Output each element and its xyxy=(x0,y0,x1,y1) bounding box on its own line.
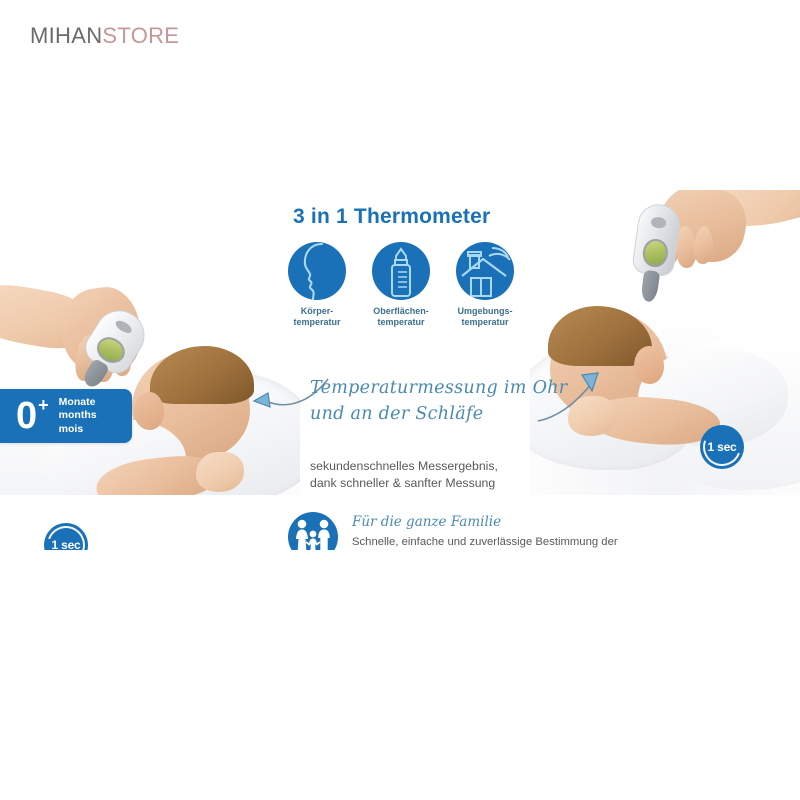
age-badge-number: 0 xyxy=(16,397,36,435)
feature-label-line1: Umgebungs- xyxy=(458,306,513,316)
script-heading: Temperaturmessung im Ohr und an der Schl… xyxy=(310,375,620,428)
feature-label-line2: temperatur xyxy=(461,317,508,327)
family-icon xyxy=(288,512,338,550)
head-profile-icon xyxy=(288,242,346,300)
center-content: 3 in 1 Thermometer Körper- temperatur xyxy=(275,205,675,329)
feature-label: Oberflächen- temperatur xyxy=(369,306,433,329)
one-second-badge-left: 1 sec xyxy=(44,523,88,550)
one-second-badge-label: 1 sec xyxy=(707,440,736,454)
script-heading-line2: und an der Schläfe xyxy=(310,404,483,424)
one-second-badge-right: 1 sec xyxy=(700,425,744,469)
logo-text-secondary: STORE xyxy=(102,23,179,48)
logo-text-primary: MIHAN xyxy=(30,23,102,48)
baby-ear xyxy=(134,392,164,430)
feature-label-line2: temperatur xyxy=(377,317,424,327)
feature-label-line1: Oberflächen- xyxy=(373,306,429,316)
feature-label: Umgebungs- temperatur xyxy=(453,306,517,329)
age-badge-line-en: months xyxy=(59,409,97,422)
feature-label-line2: temperatur xyxy=(293,317,340,327)
feature-icon-row: Körper- temperatur xyxy=(285,242,675,329)
age-badge-words: Monate months mois xyxy=(59,396,97,435)
feature-label: Körper- temperatur xyxy=(285,306,349,329)
feature-label-line1: Körper- xyxy=(301,306,334,316)
baby-ear xyxy=(634,346,664,384)
age-badge-line-fr: mois xyxy=(59,423,97,436)
sub-description-line2: dank schneller & sanfter Messung xyxy=(310,476,495,490)
feature-ambient-temperature: Umgebungs- temperatur xyxy=(453,242,517,329)
script-heading-line1: Temperaturmessung im Ohr xyxy=(310,378,567,398)
age-badge: 0 + Monate months mois xyxy=(0,389,132,443)
family-text-block: Für die ganze Familie Schnelle, einfache… xyxy=(352,512,635,550)
sub-description: sekundenschnelles Messergebnis, dank sch… xyxy=(310,458,610,492)
age-badge-line-de: Monate xyxy=(59,396,97,409)
site-logo[interactable]: MIHANSTORE xyxy=(30,23,179,49)
family-description-line1: Schnelle, einfache und zuverlässige Best… xyxy=(352,536,618,548)
baby-hand xyxy=(196,452,244,492)
feature-body-temperature: Körper- temperatur xyxy=(285,242,349,329)
family-feature-row: Für die ganze Familie Schnelle, einfache… xyxy=(288,512,635,550)
baby-bottle-icon xyxy=(372,242,430,300)
banner-canvas: 0 + Monate months mois 1 sec 1 sec 3 in … xyxy=(0,175,800,550)
one-second-badge-label: 1 sec xyxy=(51,538,80,550)
product-banner-page: MIHANSTORE xyxy=(0,0,800,800)
feature-surface-temperature: Oberflächen- temperatur xyxy=(369,242,433,329)
sub-description-line1: sekundenschnelles Messergebnis, xyxy=(310,459,498,473)
age-badge-plus: + xyxy=(38,395,49,416)
house-sun-icon xyxy=(456,242,514,300)
family-title: Für die ganze Familie xyxy=(352,514,635,530)
family-description: Schnelle, einfache und zuverlässige Best… xyxy=(352,534,635,550)
product-headline: 3 in 1 Thermometer xyxy=(293,205,675,229)
